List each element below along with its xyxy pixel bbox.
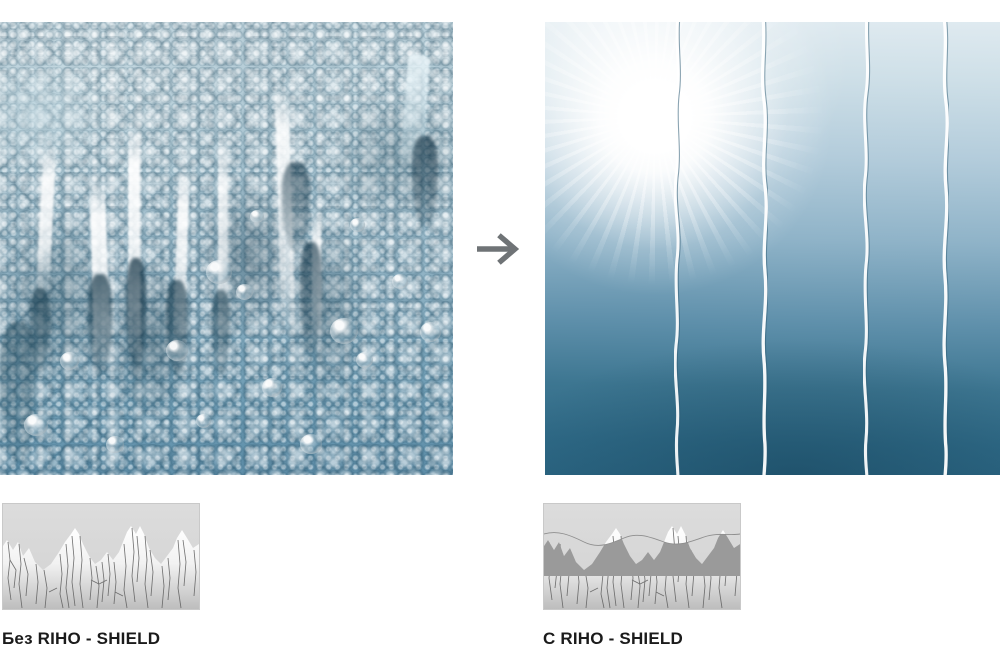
water-droplet	[420, 322, 441, 342]
water-droplet	[206, 260, 232, 284]
water-droplet	[300, 434, 322, 454]
arrow-right-icon	[477, 232, 521, 266]
water-droplet	[106, 436, 124, 453]
coated-surface-diagram	[543, 503, 741, 610]
water-droplet	[392, 274, 408, 289]
water-rivulet	[760, 22, 768, 475]
water-droplet	[330, 318, 358, 344]
water-droplet	[250, 210, 264, 223]
untreated-glass-photo	[0, 22, 453, 475]
caption-without-shield: Без RIHO - SHIELD	[2, 629, 160, 649]
water-droplet	[60, 352, 79, 370]
water-rivulet	[863, 22, 871, 475]
comparison-figure: TEMPERED GLASS EN 12150-1-ST RIHO RIHOSH…	[0, 0, 1000, 668]
water-droplet	[24, 414, 48, 436]
water-droplet	[166, 340, 188, 361]
glass-glow-overlay	[545, 22, 1000, 475]
water-droplet	[236, 284, 253, 300]
coated-glass-photo: TEMPERED GLASS EN 12150-1-ST RIHO RIHOSH…	[545, 22, 1000, 475]
water-droplet	[356, 352, 373, 368]
untreated-surface-diagram	[2, 503, 200, 610]
water-droplet	[196, 414, 211, 428]
water-rivulet	[674, 22, 682, 475]
caption-with-shield: С RIHO - SHIELD	[543, 629, 683, 649]
water-droplet	[262, 378, 282, 397]
water-droplet	[350, 218, 365, 232]
water-rivulet	[941, 22, 949, 475]
